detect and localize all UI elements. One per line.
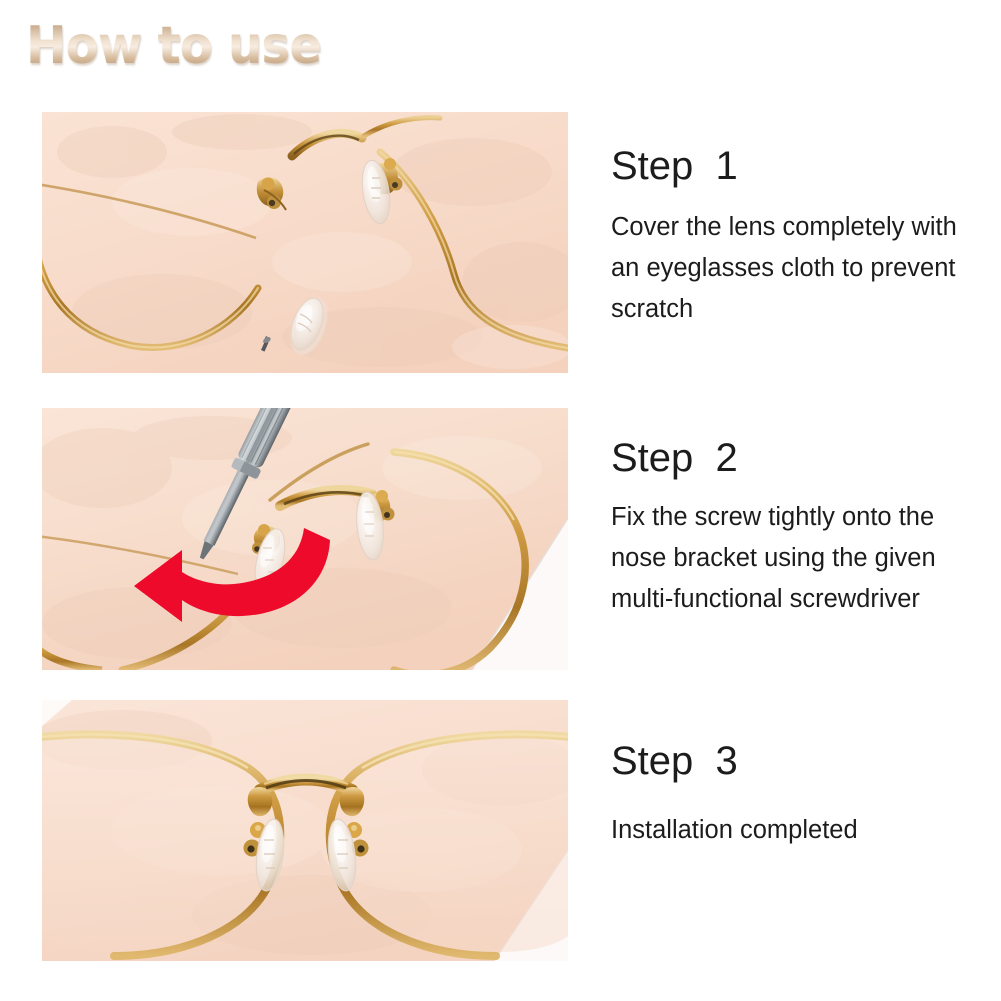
step-1-photo	[42, 112, 568, 373]
step-2-heading: Step 2	[611, 435, 981, 481]
step-2-illustration	[42, 408, 568, 670]
step-1-text-block: Step 1 Cover the lens completely with an…	[611, 143, 981, 330]
step-3-illustration	[42, 700, 568, 961]
step-2-text-block: Step 2 Fix the screw tightly onto the no…	[611, 435, 981, 620]
step-2-photo	[42, 408, 568, 670]
step-3-photo	[42, 700, 568, 961]
step-3-text-block: Step 3 Installation completed	[611, 738, 981, 851]
step-1-body: Cover the lens completely with an eyegla…	[611, 207, 981, 330]
page-title: How to use	[26, 18, 321, 74]
step-1-illustration	[42, 112, 568, 373]
step-3-body: Installation completed	[611, 810, 981, 851]
step-3-heading: Step 3	[611, 738, 981, 784]
step-1-heading: Step 1	[611, 143, 981, 189]
step-2-body: Fix the screw tightly onto the nose brac…	[611, 497, 981, 620]
